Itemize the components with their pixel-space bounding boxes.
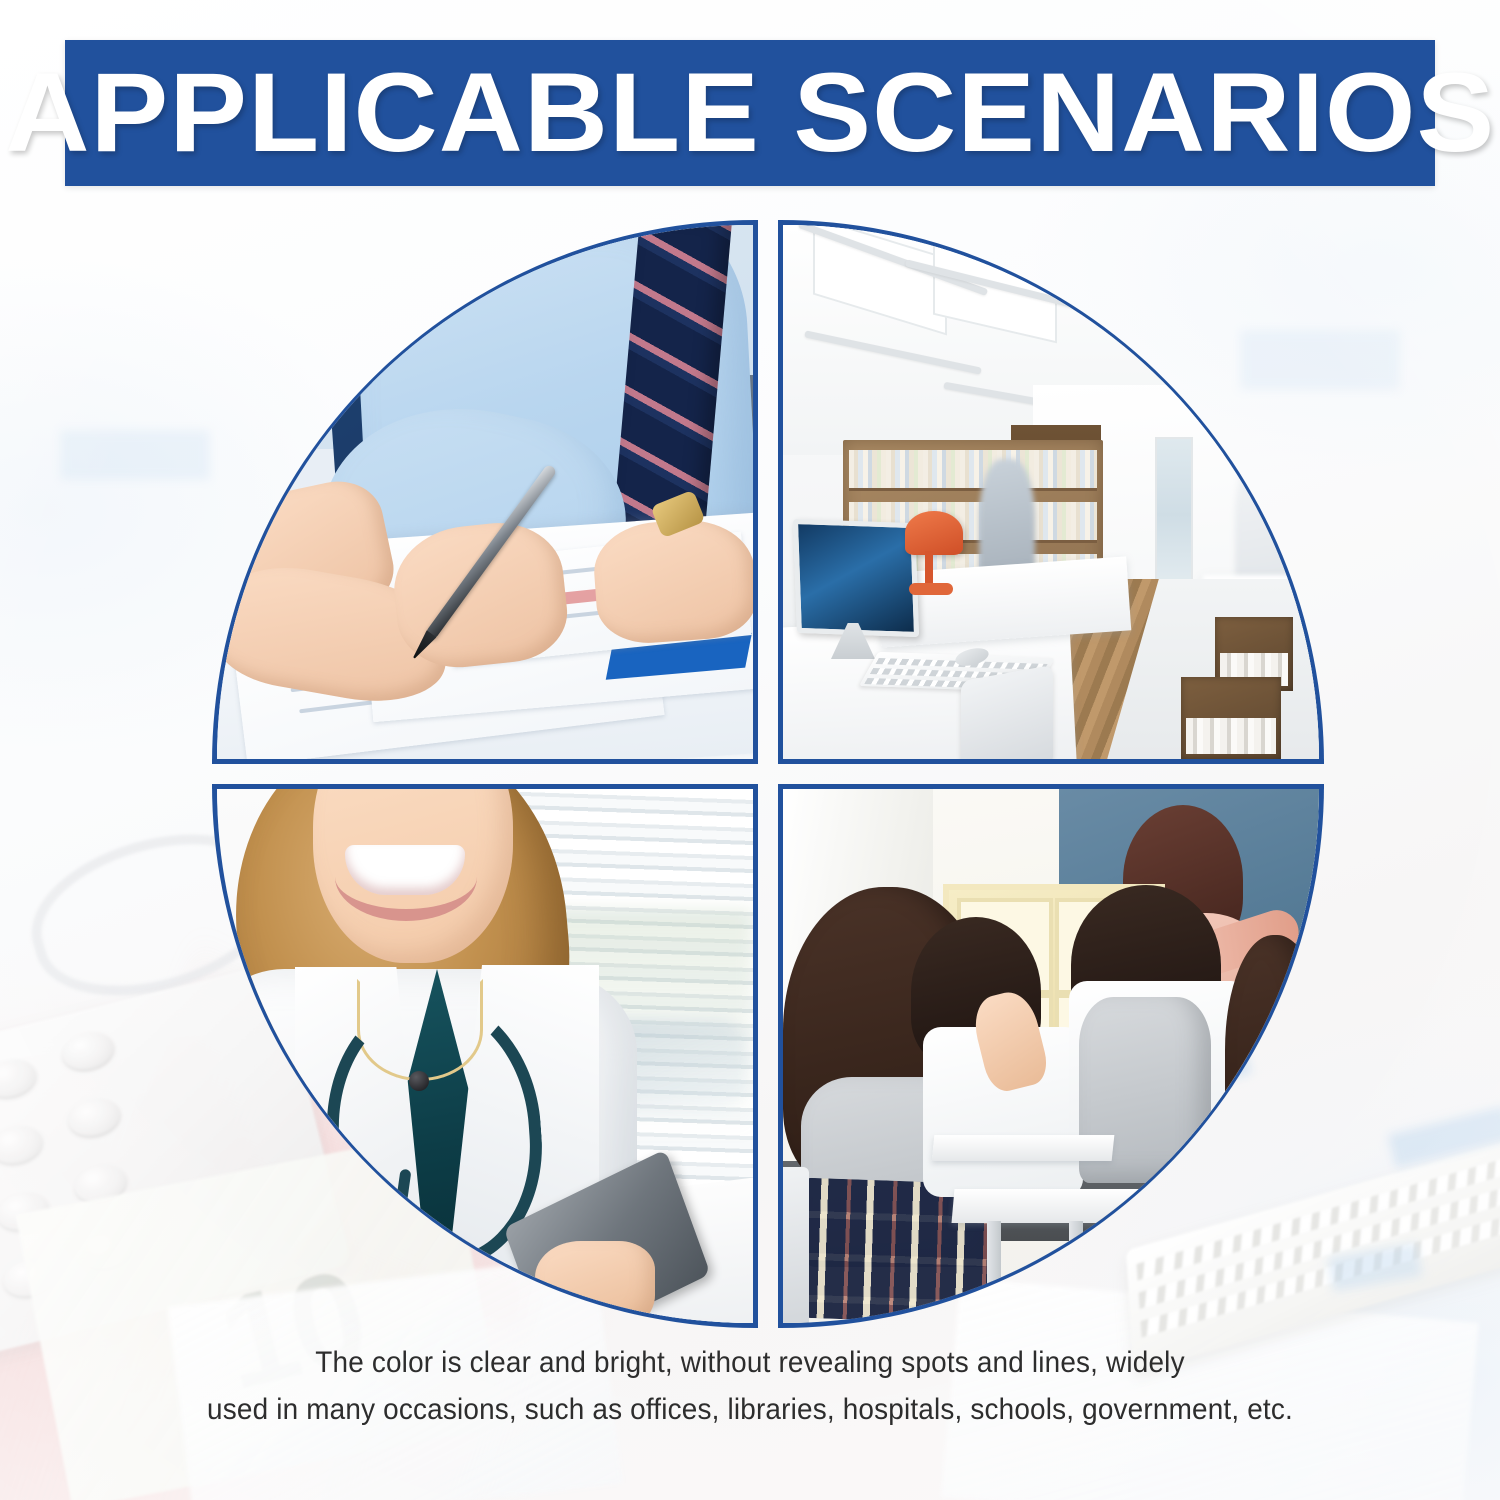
desk-lamp-shade: [905, 511, 963, 555]
wood-shelf-lower: [1181, 677, 1281, 759]
doctor-hand: [535, 1241, 655, 1323]
desk-lamp-stem: [925, 551, 933, 587]
scenario-panel-business-meeting[interactable]: [212, 220, 758, 764]
businessman-right-hand: [591, 516, 753, 647]
page-title: APPLICABLE SCENARIOS: [5, 57, 1495, 169]
doctor-lips: [335, 833, 477, 921]
business-meeting-photo: [217, 225, 753, 759]
classroom-desk-rear: [932, 1135, 1115, 1161]
office-chair: [961, 665, 1053, 759]
desk-leg-2: [1069, 1221, 1083, 1323]
applicable-scenarios-poster: 10 APPLICABLE SCENARIOS: [0, 0, 1500, 1500]
caption-line-2: used in many occasions, such as offices,…: [192, 1387, 1308, 1434]
desk-lamp-base: [909, 583, 953, 595]
classroom-chair-front: [783, 1167, 809, 1323]
imac-monitor: [793, 519, 919, 637]
scenario-wheel: [212, 220, 1324, 1328]
scenario-panel-office-library[interactable]: [778, 220, 1324, 764]
hospital-doctor-photo: [217, 789, 753, 1323]
classroom-desk-front: [952, 1189, 1185, 1223]
student-hair-girl-right: [1225, 935, 1319, 1175]
scenario-panel-hospital-doctor[interactable]: [212, 784, 758, 1328]
desk-leg-1: [987, 1221, 1001, 1323]
school-classroom-photo: [783, 789, 1319, 1323]
desk-leg-3: [1135, 1217, 1149, 1319]
stethoscope-chestpiece: [389, 1221, 435, 1267]
office-library-photo: [783, 225, 1319, 759]
header-banner: APPLICABLE SCENARIOS: [65, 40, 1435, 186]
caption: The color is clear and bright, without r…: [192, 1340, 1308, 1433]
caption-line-1: The color is clear and bright, without r…: [192, 1340, 1308, 1387]
scenario-panel-school-classroom[interactable]: [778, 784, 1324, 1328]
